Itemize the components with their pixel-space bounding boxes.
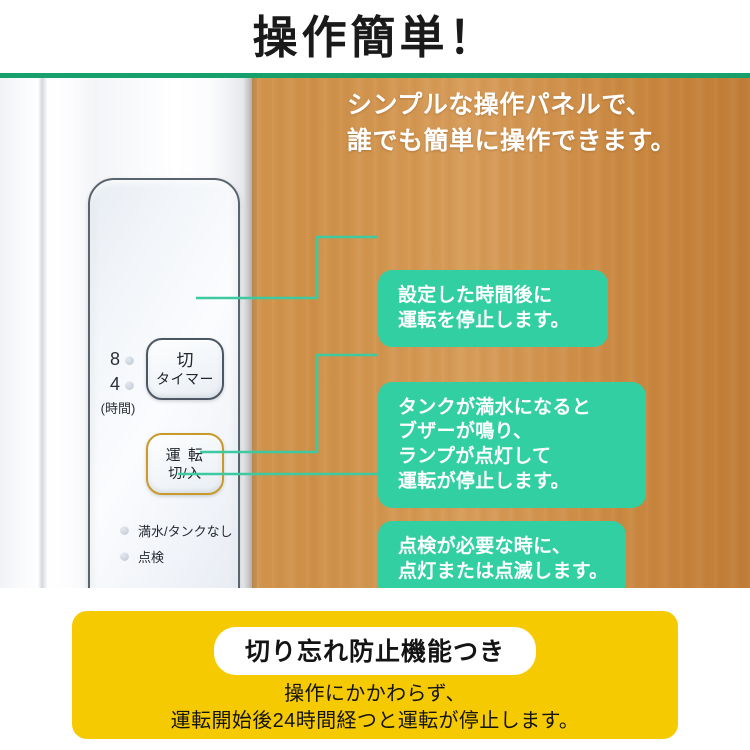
inspection-callout-line-1: 点検が必要な時に、 bbox=[398, 535, 610, 560]
header-bar: 操作簡単！ bbox=[0, 0, 750, 75]
full-tank-callout: タンクが満水になると ブザーが鳴り、 ランプが点灯して 運転が停止します。 bbox=[378, 382, 646, 508]
auto-shutoff-line-1: 操作にかかわらず、 bbox=[72, 681, 678, 708]
timer-callout-line-2: 運転を停止します。 bbox=[398, 309, 592, 334]
full-tank-callout-line-3: ランプが点灯して bbox=[398, 445, 630, 470]
timer-callout-line-1: 設定した時間後に bbox=[398, 284, 592, 309]
inspection-callout-line-2: 点灯または点滅します。 bbox=[398, 560, 610, 585]
auto-shutoff-banner: 切り忘れ防止機能つき 操作にかかわらず、 運転開始後24時間経つと運転が停止しま… bbox=[72, 611, 678, 739]
auto-shutoff-line-2: 運転開始後24時間経つと運転が停止します。 bbox=[72, 708, 678, 735]
auto-shutoff-pill-label: 切り忘れ防止機能つき bbox=[214, 627, 536, 675]
auto-shutoff-description: 操作にかかわらず、 運転開始後24時間経つと運転が停止します。 bbox=[72, 681, 678, 735]
callout-connectors bbox=[0, 78, 750, 588]
product-photo: 8 4 (時間) 切 タイマー 運 転 切/入 満水/タンクなし 点検 シンプル… bbox=[0, 78, 750, 588]
full-tank-callout-line-2: ブザーが鳴り、 bbox=[398, 420, 630, 445]
page-title: 操作簡単！ bbox=[0, 9, 750, 67]
full-tank-callout-line-4: 運転が停止します。 bbox=[398, 470, 630, 495]
inspection-callout: 点検が必要な時に、 点灯または点滅します。 bbox=[378, 521, 626, 588]
timer-callout: 設定した時間後に 運転を停止します。 bbox=[378, 270, 608, 347]
full-tank-callout-line-1: タンクが満水になると bbox=[398, 396, 630, 421]
